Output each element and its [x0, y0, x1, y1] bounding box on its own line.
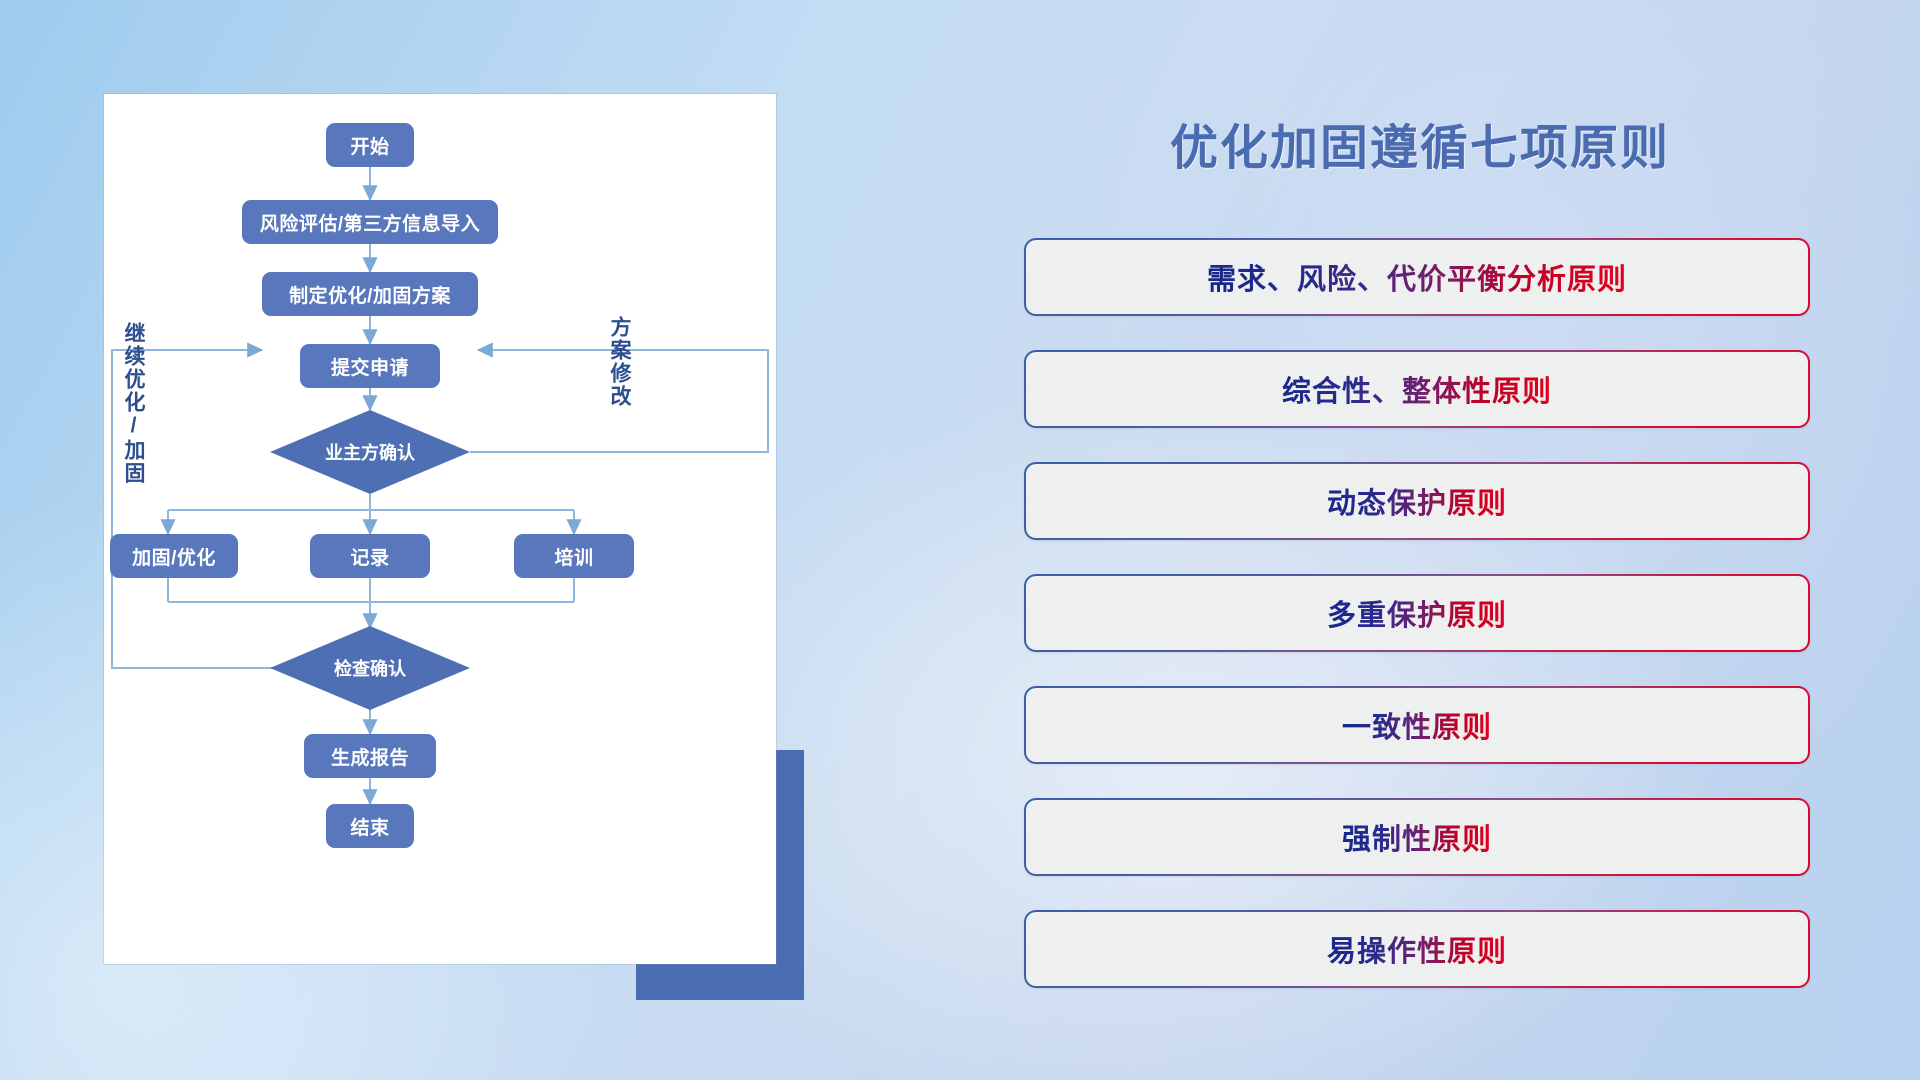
flow-node-reinforce[interactable]: 加固/优化: [110, 534, 238, 578]
flow-node-label: 生成报告: [331, 743, 409, 770]
flowchart-card: 开始 风险评估/第三方信息导入 制定优化/加固方案 提交申请 业主方确认 加固/…: [104, 94, 776, 964]
edge-label-right-loop: 方案修改: [608, 316, 630, 408]
flow-node-training[interactable]: 培训: [514, 534, 634, 578]
principle-card-3[interactable]: 动态保护原则: [1024, 462, 1810, 540]
principle-card-2[interactable]: 综合性、整体性原则: [1024, 350, 1810, 428]
flow-decision-inspection[interactable]: 检查确认: [270, 626, 470, 710]
flow-node-start[interactable]: 开始: [326, 123, 414, 167]
flow-node-label: 风险评估/第三方信息导入: [260, 209, 480, 236]
flow-node-label: 开始: [350, 132, 389, 159]
flow-decision-owner-confirm[interactable]: 业主方确认: [270, 410, 470, 494]
principle-label: 强制性原则: [1342, 816, 1492, 858]
flow-node-record[interactable]: 记录: [310, 534, 430, 578]
flow-node-label: 加固/优化: [132, 543, 216, 570]
principle-label: 综合性、整体性原则: [1282, 368, 1552, 410]
principle-label: 一致性原则: [1342, 704, 1492, 746]
flow-node-label: 检查确认: [334, 655, 406, 681]
flow-node-end[interactable]: 结束: [326, 804, 414, 848]
page-title: 优化加固遵循七项原则: [1020, 108, 1820, 178]
principle-label: 易操作性原则: [1327, 928, 1507, 970]
principles-list: 需求、风险、代价平衡分析原则 综合性、整体性原则 动态保护原则 多重保护原则 一…: [1024, 238, 1810, 1022]
principle-card-4[interactable]: 多重保护原则: [1024, 574, 1810, 652]
principle-card-5[interactable]: 一致性原则: [1024, 686, 1810, 764]
principle-card-6[interactable]: 强制性原则: [1024, 798, 1810, 876]
flow-node-risk-assessment[interactable]: 风险评估/第三方信息导入: [242, 200, 498, 244]
flow-node-label: 业主方确认: [325, 439, 415, 465]
flow-node-label: 培训: [554, 543, 593, 570]
principle-label: 需求、风险、代价平衡分析原则: [1207, 256, 1627, 298]
flow-node-label: 记录: [350, 543, 389, 570]
flow-node-generate-report[interactable]: 生成报告: [304, 734, 436, 778]
flow-node-label: 提交申请: [331, 353, 409, 380]
flow-node-plan[interactable]: 制定优化/加固方案: [262, 272, 478, 316]
principle-label: 多重保护原则: [1327, 592, 1507, 634]
edge-label-left-loop: 继续优化/加固: [122, 322, 144, 485]
flow-node-label: 结束: [350, 813, 389, 840]
slide-canvas: 开始 风险评估/第三方信息导入 制定优化/加固方案 提交申请 业主方确认 加固/…: [0, 0, 1920, 1080]
flow-node-submit[interactable]: 提交申请: [300, 344, 440, 388]
flow-node-label: 制定优化/加固方案: [289, 281, 451, 308]
principle-card-7[interactable]: 易操作性原则: [1024, 910, 1810, 988]
principle-label: 动态保护原则: [1327, 480, 1507, 522]
principle-card-1[interactable]: 需求、风险、代价平衡分析原则: [1024, 238, 1810, 316]
